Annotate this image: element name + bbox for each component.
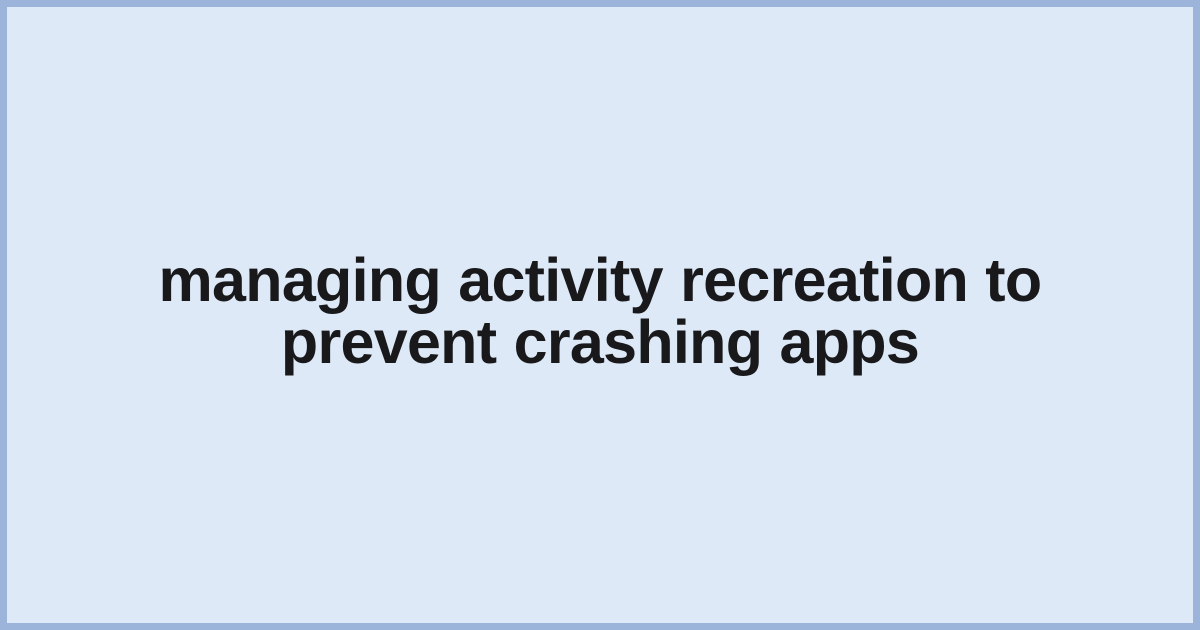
card-panel: managing activity recreation to prevent … [7, 7, 1193, 623]
share-card: managing activity recreation to prevent … [0, 0, 1200, 630]
headline-block: managing activity recreation to prevent … [7, 249, 1193, 373]
page-title: managing activity recreation to prevent … [65, 249, 1135, 373]
